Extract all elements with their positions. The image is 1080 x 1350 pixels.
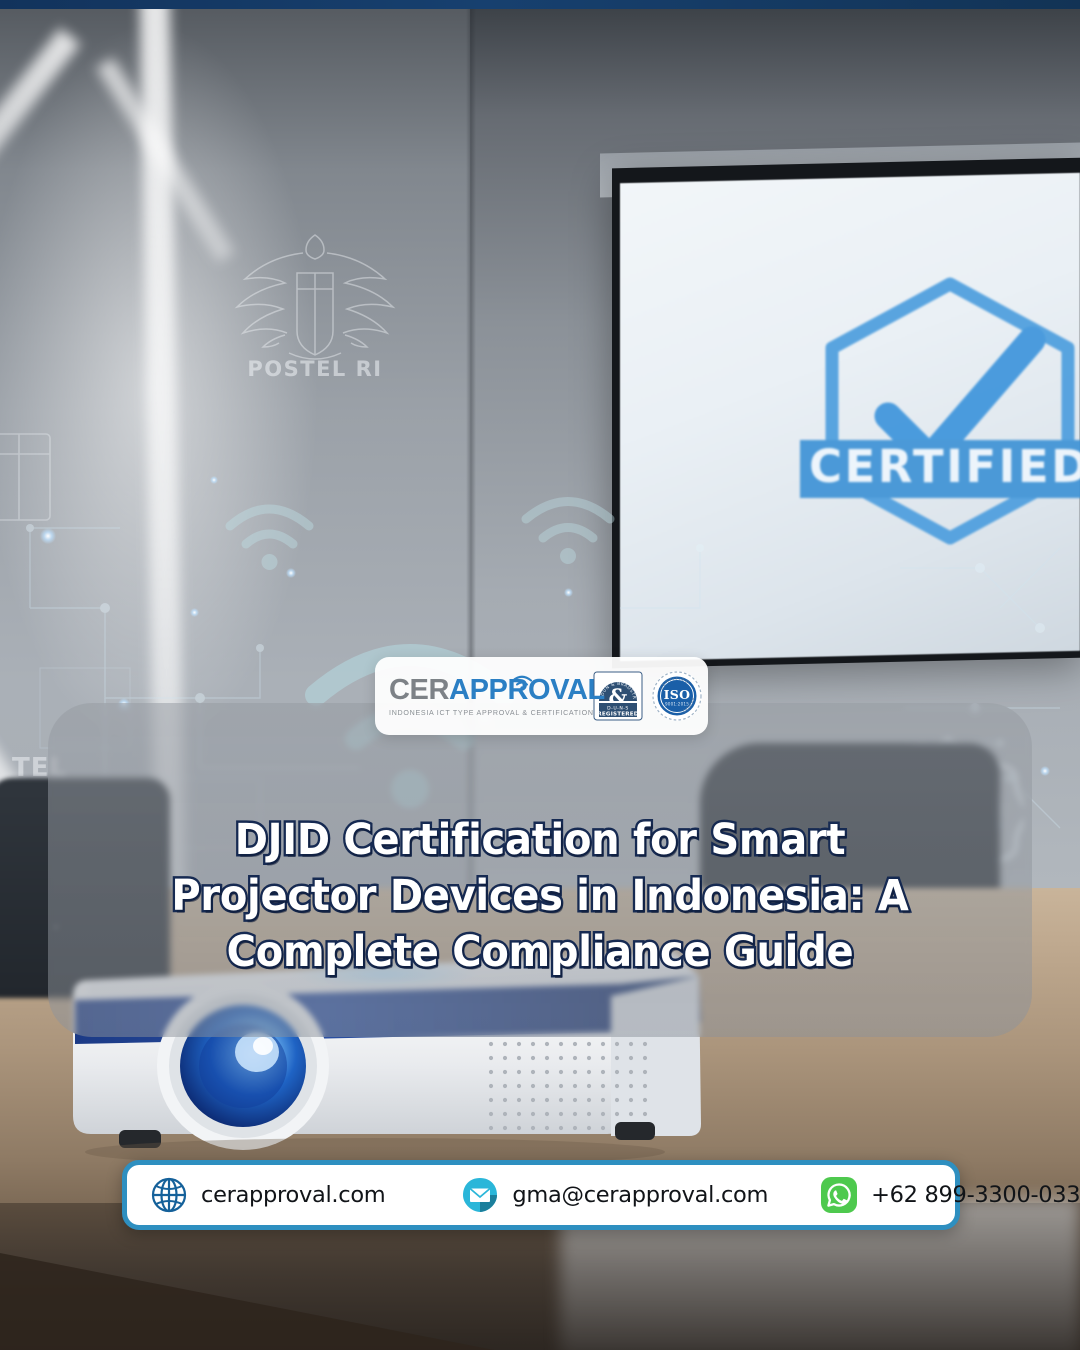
- svg-text:REGISTERED: REGISTERED: [597, 711, 638, 717]
- headline-line-3: Complete Compliance Guide: [103, 924, 977, 980]
- postel-ri-emblem: POSTEL RI: [215, 213, 415, 383]
- contact-website[interactable]: cerapproval.com: [150, 1176, 385, 1214]
- wordmark-val: VAL: [550, 674, 605, 706]
- light-particle: [286, 568, 296, 578]
- wordmark-cer: CER: [389, 674, 449, 706]
- svg-text:9001:2015: 9001:2015: [665, 702, 689, 707]
- wordmark-text: CERAPPROVAL: [389, 676, 585, 705]
- headline-block: DJID Certification for Smart Projector D…: [70, 812, 1010, 980]
- svg-text:POSTEL RI: POSTEL RI: [247, 357, 382, 381]
- wifi-icon-small-right: [518, 490, 618, 568]
- contact-whatsapp[interactable]: +62 899-3300-033: [820, 1176, 1080, 1214]
- promo-card-canvas: CERTIFIED: [0, 0, 1080, 1350]
- svg-text:ISO: ISO: [664, 687, 691, 702]
- brand-logo-card: CERAPPROVAL INDONESIA ICT TYPE APPROVAL …: [375, 657, 708, 735]
- headline-line-1: DJID Certification for Smart: [103, 812, 977, 868]
- light-particle: [190, 608, 199, 617]
- cerapproval-wordmark: CERAPPROVAL INDONESIA ICT TYPE APPROVAL …: [389, 676, 585, 717]
- light-particle: [1040, 766, 1050, 776]
- top-accent-strip: [0, 0, 1080, 9]
- globe-icon: [150, 1176, 188, 1214]
- headline-line-2: Projector Devices in Indonesia: A: [103, 868, 977, 924]
- contact-bar: cerapproval.com gma@cerapproval.com: [122, 1160, 960, 1230]
- wifi-icon-small-left: [222, 498, 317, 573]
- brand-tagline: INDONESIA ICT TYPE APPROVAL & CERTIFICAT…: [389, 709, 585, 717]
- website-text: cerapproval.com: [201, 1182, 385, 1208]
- envelope-icon: [461, 1176, 499, 1214]
- light-particle: [564, 588, 573, 597]
- light-particle: [210, 476, 218, 484]
- postel-emblem-left-partial: [0, 408, 100, 548]
- contact-email[interactable]: gma@cerapproval.com: [461, 1176, 768, 1214]
- email-text: gma@cerapproval.com: [512, 1182, 768, 1208]
- light-particle: [40, 528, 56, 544]
- whatsapp-icon: [820, 1176, 858, 1214]
- iso-9001-badge: CERTIFIED COMPANY ISO 9001:2015: [651, 670, 703, 722]
- wifi-signal-icon: [511, 666, 533, 680]
- whatsapp-text: +62 899-3300-033: [871, 1182, 1080, 1208]
